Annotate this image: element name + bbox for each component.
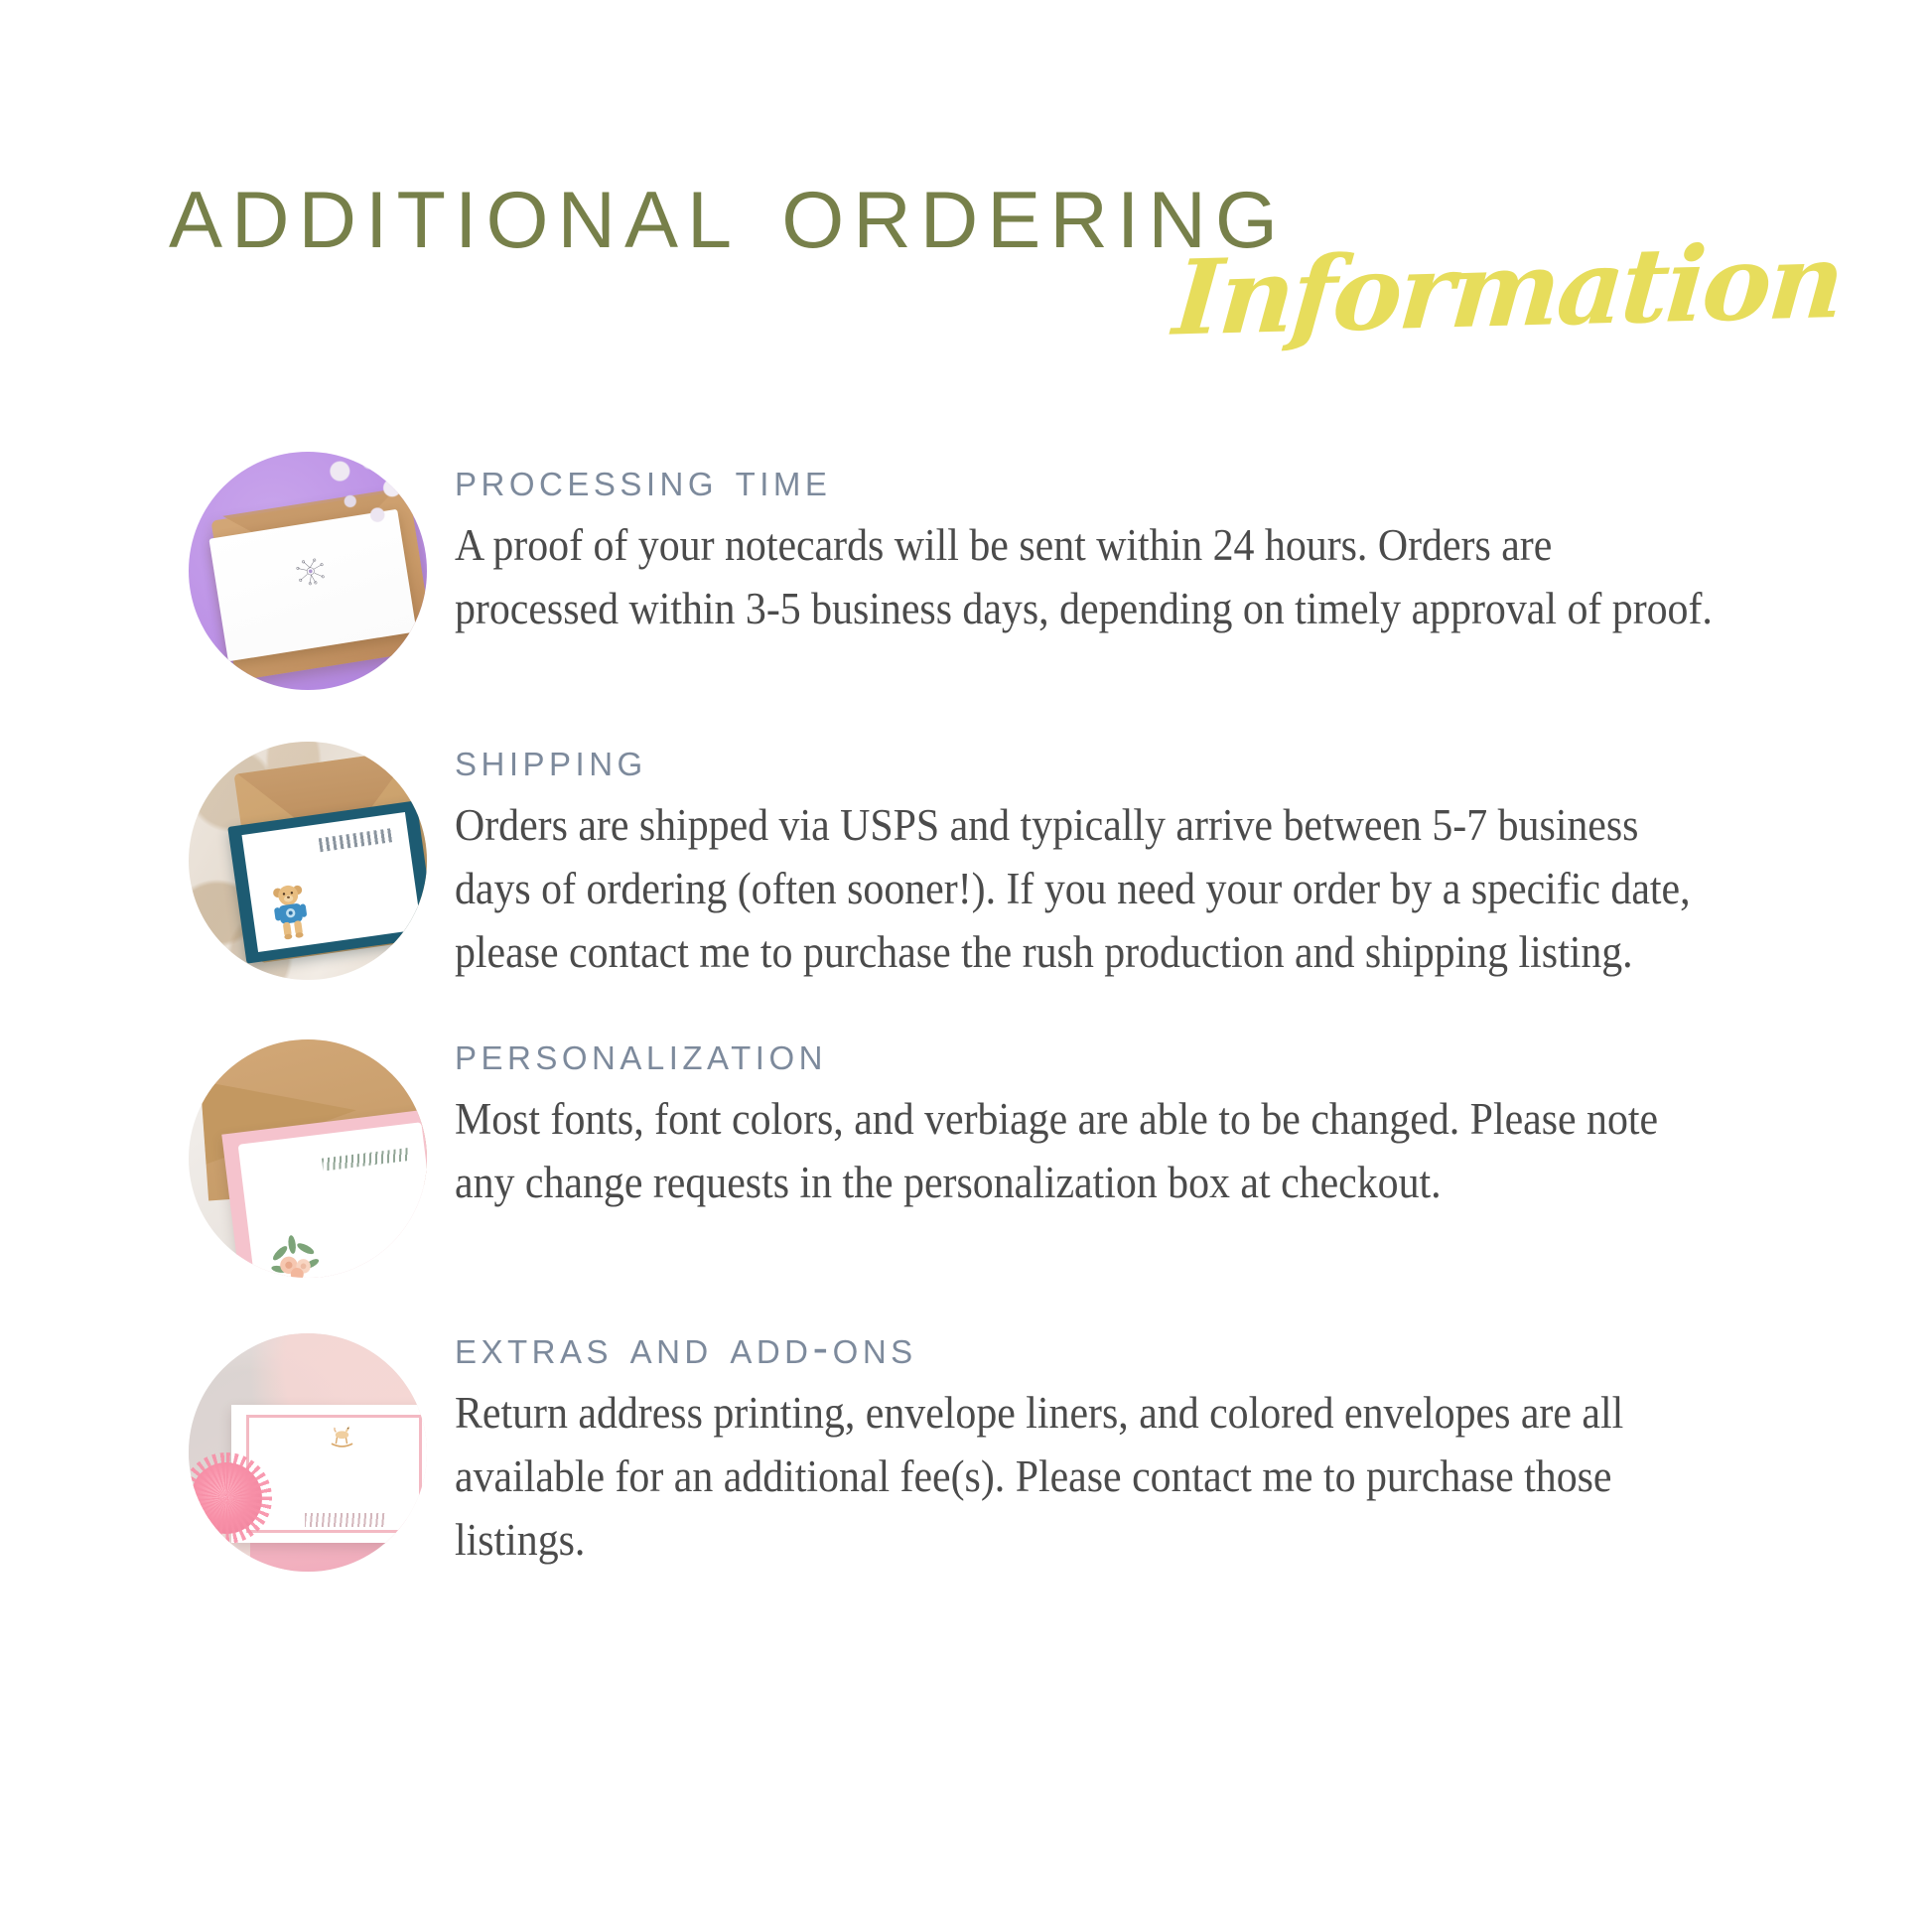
notecard-on-lavender-background-photo — [189, 452, 427, 690]
section-thumbnail-wrap — [189, 1026, 427, 1278]
rocking-horse-icon — [326, 1423, 358, 1450]
info-section: Processing Time A proof of your notecard… — [0, 452, 1932, 690]
section-text: Shipping Orders are shipped via USPS and… — [455, 732, 1716, 984]
section-thumbnail-wrap — [189, 452, 427, 690]
section-thumbnail-wrap — [189, 732, 427, 980]
card-script-name — [322, 1147, 411, 1171]
pink-pom-pom-decor — [191, 1462, 262, 1534]
teddy-bear-icon — [266, 879, 317, 943]
card-name-text — [319, 828, 395, 853]
teddy-bear-notecard-photo — [189, 742, 427, 980]
card-bottom-text — [305, 1513, 387, 1527]
page-title: Additional Ordering — [169, 149, 1287, 266]
section-body: Most fonts, font colors, and verbiage ar… — [455, 1087, 1716, 1214]
page-title-script: Information — [1170, 226, 1845, 353]
page-root: Additional Ordering Information — [0, 0, 1932, 1932]
section-body: Orders are shipped via USPS and typicall… — [455, 793, 1716, 984]
section-heading: Shipping — [455, 734, 1716, 785]
rocking-horse-notecard-photo — [189, 1333, 427, 1572]
section-text: Processing Time A proof of your notecard… — [455, 452, 1716, 640]
section-text: Personalization Most fonts, font colors,… — [455, 1026, 1716, 1214]
info-section: Extras and Add-Ons Return address printi… — [0, 1319, 1932, 1572]
section-body: Return address printing, envelope liners… — [455, 1381, 1716, 1572]
section-thumbnail-wrap — [189, 1319, 427, 1572]
floral-monogram-icon — [280, 551, 342, 592]
section-heading: Processing Time — [455, 454, 1716, 505]
section-text: Extras and Add-Ons Return address printi… — [455, 1319, 1716, 1572]
section-heading: Personalization — [455, 1028, 1716, 1079]
info-section: Personalization Most fonts, font colors,… — [0, 1026, 1932, 1278]
info-section: Shipping Orders are shipped via USPS and… — [0, 732, 1932, 984]
pink-scalloped-notecard-photo — [189, 1039, 427, 1278]
floral-bouquet-icon — [261, 1229, 330, 1278]
page-header: Additional Ordering Information — [0, 149, 1932, 397]
section-heading: Extras and Add-Ons — [455, 1321, 1716, 1373]
info-sections-list: Processing Time A proof of your notecard… — [0, 452, 1932, 1613]
section-body: A proof of your notecards will be sent w… — [455, 513, 1716, 640]
